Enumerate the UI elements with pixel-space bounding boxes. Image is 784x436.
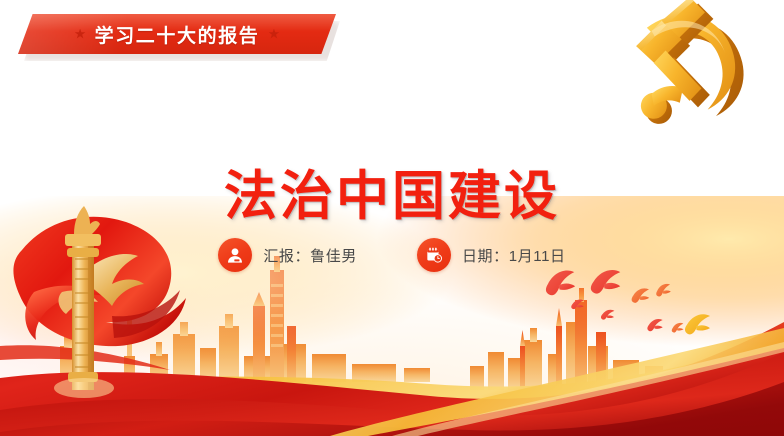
topic-banner-label: 学习二十大的报告 xyxy=(95,21,260,48)
calendar-clock-icon xyxy=(417,238,451,272)
star-icon xyxy=(75,29,86,40)
meta-row: 汇报：鲁佳男 日期：1月11日 xyxy=(0,238,784,272)
star-icon xyxy=(268,29,279,40)
topic-banner: 学习二十大的报告 xyxy=(18,14,340,56)
topic-banner-ribbon[interactable]: 学习二十大的报告 xyxy=(18,14,336,54)
user-avatar-icon xyxy=(218,238,252,272)
presenter-item: 汇报：鲁佳男 xyxy=(218,238,357,272)
page-title: 法治中国建设 xyxy=(0,154,784,230)
date-item: 日期：1月11日 xyxy=(417,238,566,272)
date-label: 日期：1月11日 xyxy=(462,245,566,266)
presenter-label: 汇报：鲁佳男 xyxy=(263,245,357,266)
presentation-slide: 学习二十大的报告 xyxy=(0,0,784,436)
